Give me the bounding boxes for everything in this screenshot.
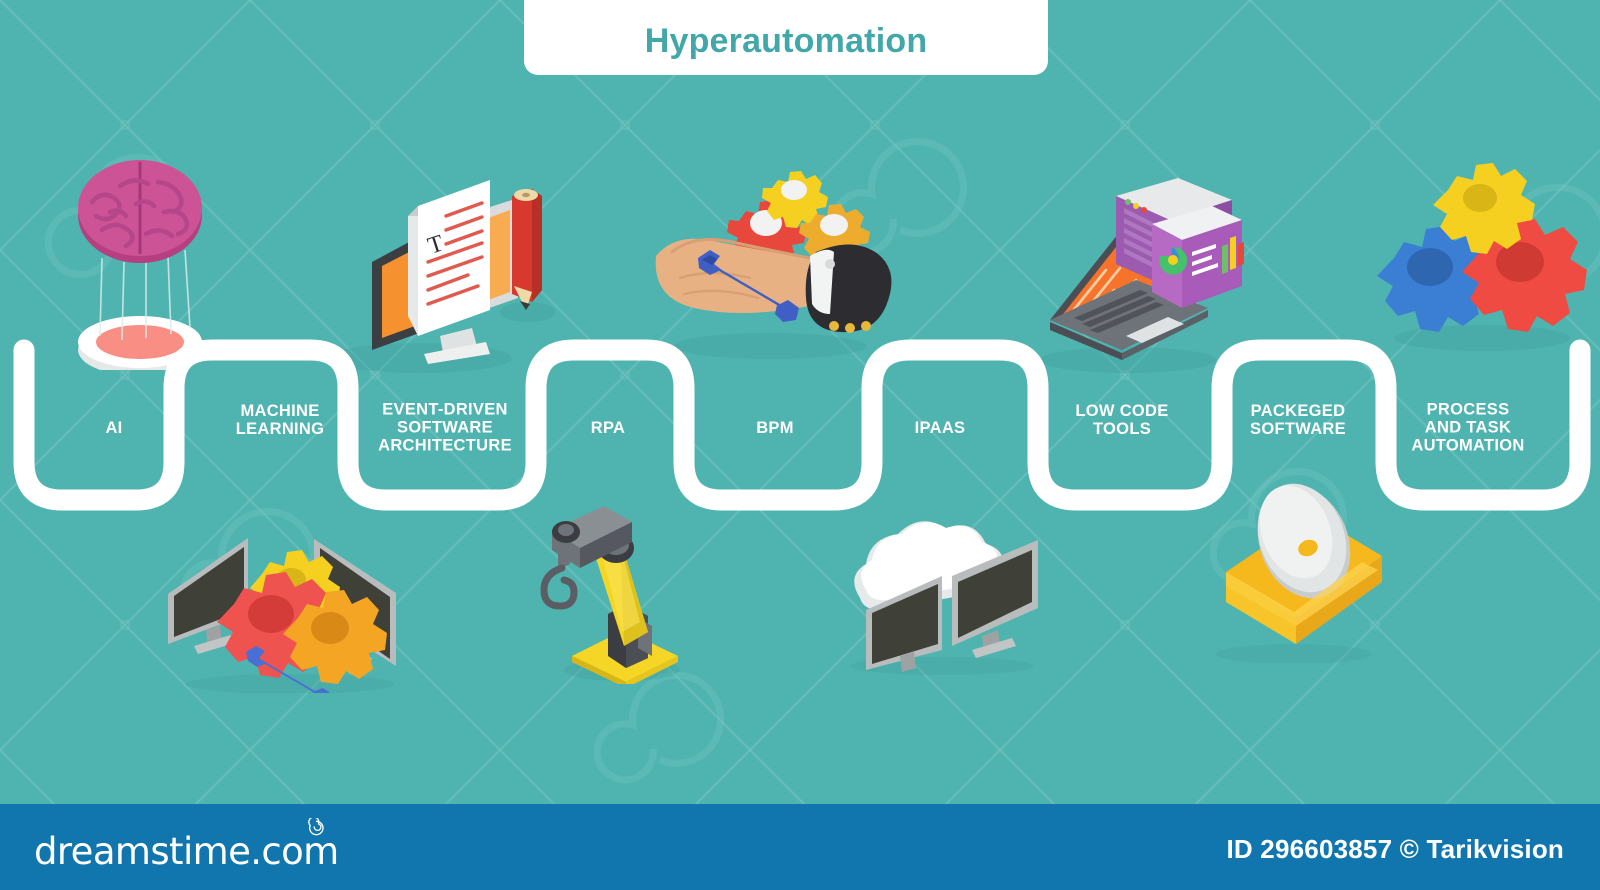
flow-label-ipaas: IPAAS — [915, 420, 966, 438]
flow-label-edsa: EVENT-DRIVEN SOFTWARE ARCHITECTURE — [378, 401, 512, 454]
title-banner: Hyperautomation — [524, 0, 1048, 75]
dreamstime-logo-text: dreamstime.com — [34, 830, 339, 873]
flow-label-lowcode: LOW CODE TOOLS — [1075, 403, 1168, 439]
cloud-monitors-illustration — [830, 490, 1055, 675]
footer-credit: ID 296603857 © Tarikvision — [1226, 834, 1564, 865]
dreamstime-logo[interactable]: dreamstime.com — [34, 830, 339, 873]
flow-label-bpm: BPM — [756, 420, 794, 438]
gear-cluster-illustration — [1372, 150, 1587, 355]
envelope-disc-illustration — [1190, 478, 1395, 663]
footer-bar: dreamstime.com ID 296603857 © Tarikvisio… — [0, 804, 1600, 890]
robotic-arm-illustration — [522, 492, 702, 684]
flow-label-packaged: PACKEGED SOFTWARE — [1250, 403, 1346, 439]
dual-monitors-gears-wrench-illustration — [150, 518, 425, 693]
flow-label-pta: PROCESS AND TASK AUTOMATION — [1411, 401, 1524, 454]
flow-label-ai: AI — [105, 420, 122, 438]
flow-label-ml: MACHINE LEARNING — [236, 403, 325, 439]
flow-label-rpa: RPA — [591, 420, 626, 438]
spiral-icon — [306, 818, 326, 838]
infographic-canvas: T — [0, 0, 1600, 890]
dashboard-window — [1152, 206, 1244, 308]
page-title: Hyperautomation — [645, 22, 928, 75]
